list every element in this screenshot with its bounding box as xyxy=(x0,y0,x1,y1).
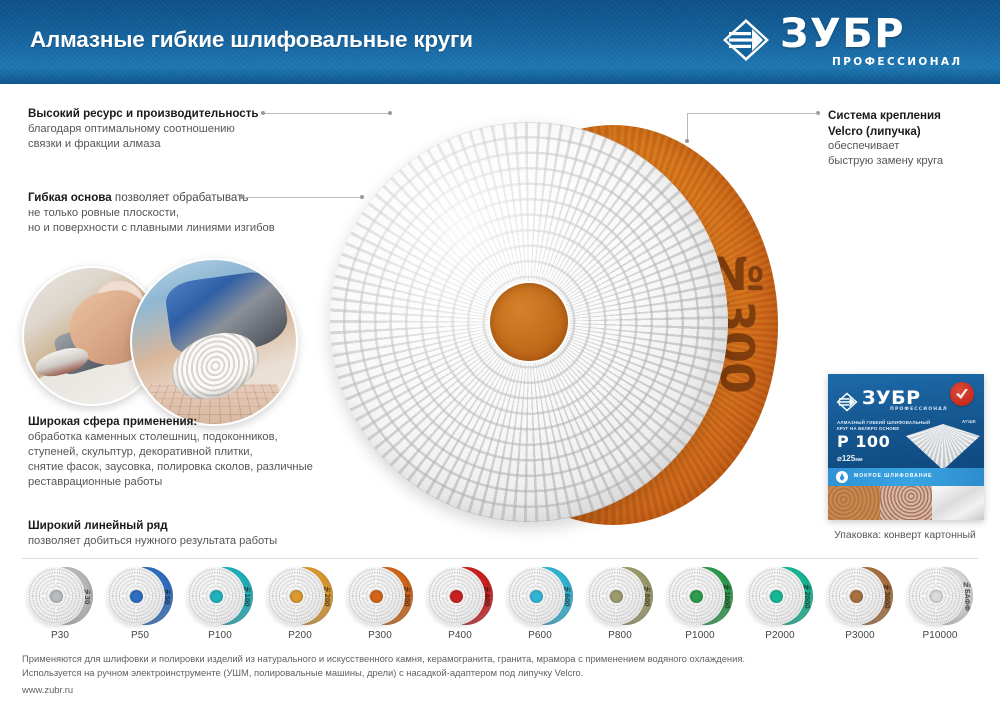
callout-lineup-title: Широкий линейный ряд xyxy=(28,518,277,534)
package-material-strip xyxy=(828,486,984,520)
variant-disc-face xyxy=(667,567,725,625)
footer-line1: Применяются для шлифовки и полировки изд… xyxy=(22,652,882,666)
variant-disc-face xyxy=(27,567,85,625)
variant-disc-face xyxy=(427,567,485,625)
package-diameter: ⌀125мм xyxy=(837,454,863,463)
variant-disc-face xyxy=(587,567,645,625)
lineup-divider xyxy=(22,558,978,559)
package-box: ЗУБР ПРОФЕССИОНАЛ АЛМАЗНЫЙ ГИБКИЙ ШЛИФОВ… xyxy=(828,374,984,520)
variant-label: P300 xyxy=(340,630,420,641)
variant-disc-face xyxy=(907,567,965,625)
variant-disc-face xyxy=(187,567,245,625)
package-article-code: АГШК xyxy=(962,419,976,424)
variant-center-hole xyxy=(450,590,463,603)
variant-center-hole xyxy=(50,590,63,603)
variant-center-hole xyxy=(930,590,943,603)
callout-velcro-title-2: Velcro (липучка) xyxy=(828,124,943,140)
variant-item[interactable]: №30P30 xyxy=(20,566,100,644)
package-caption: Упаковка: конверт картонный xyxy=(810,530,1000,541)
variant-disc-face xyxy=(107,567,165,625)
callout-velcro-title-1: Система крепления xyxy=(828,108,943,124)
variant-disc: №30 xyxy=(27,566,93,626)
variant-item[interactable]: №400P400 xyxy=(420,566,500,644)
callout-flexible-title: Гибкая основа позволяет обрабатывать xyxy=(28,190,275,206)
variant-disc: №1000 xyxy=(667,566,733,626)
variant-disc: №400 xyxy=(427,566,493,626)
variant-item[interactable]: №800P800 xyxy=(580,566,660,644)
variant-label: P100 xyxy=(180,630,260,641)
disc-center-hole xyxy=(490,283,568,361)
variant-item[interactable]: №1000P1000 xyxy=(660,566,740,644)
variant-list: №30P30№50P50№100P100№200P200№300P300№400… xyxy=(20,566,980,644)
photo-a-pad-shape xyxy=(33,343,92,382)
variant-center-hole xyxy=(370,590,383,603)
variant-disc: №БАФФ xyxy=(907,566,973,626)
package-grit-value: P 100 xyxy=(837,432,890,451)
zubr-diamond-icon xyxy=(722,18,770,62)
package-quality-seal-icon xyxy=(950,382,974,406)
grinding-disc-face xyxy=(330,122,728,522)
callout-performance-title: Высокий ресурс и производительность xyxy=(28,106,259,122)
variant-center-hole xyxy=(290,590,303,603)
variant-item[interactable]: №200P200 xyxy=(260,566,340,644)
callout-application-line3: снятие фасок, заусовка, полировка сколов… xyxy=(28,460,338,475)
variant-label: P1000 xyxy=(660,630,740,641)
variant-center-hole xyxy=(850,590,863,603)
package-top-panel: ЗУБР ПРОФЕССИОНАЛ АЛМАЗНЫЙ ГИБКИЙ ШЛИФОВ… xyxy=(828,374,984,468)
package-zubr-diamond-icon xyxy=(836,392,858,412)
callout-performance-line1: благодаря оптимальному соотношению xyxy=(28,122,259,137)
callout-application-line2: ступеней, скульптур, декоративной плитки… xyxy=(28,445,338,460)
callout-flexible-line1: не только ровные плоскости, xyxy=(28,206,275,221)
material-swatch-granite xyxy=(828,486,880,520)
variant-item[interactable]: №50P50 xyxy=(100,566,180,644)
variant-disc: №800 xyxy=(587,566,653,626)
variant-disc: №100 xyxy=(187,566,253,626)
variant-center-hole xyxy=(130,590,143,603)
variant-disc: №600 xyxy=(507,566,573,626)
variant-disc: №2000 xyxy=(747,566,813,626)
package-wet-banner: МОКРОЕ ШЛИФОВАНИЕ xyxy=(828,468,984,486)
callout-application-title: Широкая сфера применения: xyxy=(28,414,338,430)
photo-polishing-tile xyxy=(130,258,298,426)
variant-label: P200 xyxy=(260,630,340,641)
brand-tagline: ПРОФЕССИОНАЛ xyxy=(832,56,963,68)
variant-disc-face xyxy=(347,567,405,625)
variant-disc-face xyxy=(267,567,325,625)
variant-item[interactable]: №600P600 xyxy=(500,566,580,644)
variant-label: P10000 xyxy=(900,630,980,641)
callout-velcro: Система крепления Velcro (липучка) обесп… xyxy=(828,108,943,169)
page-header: Алмазные гибкие шлифовальные круги ЗУБР … xyxy=(0,0,1000,84)
variant-center-hole xyxy=(770,590,783,603)
product-infographic-page: Алмазные гибкие шлифовальные круги ЗУБР … xyxy=(0,0,1000,706)
material-swatch-stone xyxy=(932,486,984,520)
callout-performance-line2: связки и фракции алмаза xyxy=(28,137,259,152)
variant-disc-face xyxy=(507,567,565,625)
variant-disc: №50 xyxy=(107,566,173,626)
callout-flexible: Гибкая основа позволяет обрабатывать не … xyxy=(28,190,275,236)
callout-velcro-line1: обеспечивает xyxy=(828,139,943,154)
callout-velcro-line2: быструю замену круга xyxy=(828,154,943,169)
brand-logo: ЗУБР ПРОФЕССИОНАЛ xyxy=(722,16,982,72)
variant-label: P600 xyxy=(500,630,580,641)
variant-item[interactable]: №3000P3000 xyxy=(820,566,900,644)
variant-item[interactable]: №2000P2000 xyxy=(740,566,820,644)
application-photos xyxy=(22,258,322,410)
callout-flexible-title-rest: позволяет обрабатывать xyxy=(112,191,249,204)
page-title: Алмазные гибкие шлифовальные круги xyxy=(30,27,473,53)
variant-item[interactable]: №100P100 xyxy=(180,566,260,644)
variant-item[interactable]: №300P300 xyxy=(340,566,420,644)
callout-flexible-line2: но и поверхности с плавными линиями изги… xyxy=(28,221,275,236)
footer: Применяются для шлифовки и полировки изд… xyxy=(22,652,882,697)
variant-label: P3000 xyxy=(820,630,900,641)
variant-label: P50 xyxy=(100,630,180,641)
variant-center-hole xyxy=(210,590,223,603)
callout-application: Широкая сфера применения: обработка каме… xyxy=(28,414,338,490)
variant-center-hole xyxy=(610,590,623,603)
material-swatch-marble xyxy=(880,486,932,520)
package-diameter-unit: мм xyxy=(855,457,862,463)
callout-lineup: Широкий линейный ряд позволяет добиться … xyxy=(28,518,277,549)
leader-line-performance xyxy=(265,113,390,114)
footer-url[interactable]: www.zubr.ru xyxy=(22,683,882,697)
leader-line-velcro-h xyxy=(687,113,818,114)
package-brand-name: ЗУБР xyxy=(862,387,921,409)
water-drop-icon xyxy=(836,471,848,483)
variant-label: P400 xyxy=(420,630,500,641)
callout-performance: Высокий ресурс и производительность благ… xyxy=(28,106,259,152)
hero-product: №300 xyxy=(330,122,760,532)
package-diameter-value: 125 xyxy=(842,454,855,463)
variant-disc: №300 xyxy=(347,566,413,626)
variant-label: P2000 xyxy=(740,630,820,641)
package-brand-tagline: ПРОФЕССИОНАЛ xyxy=(890,407,948,412)
variant-disc: №200 xyxy=(267,566,333,626)
callout-lineup-subtitle: позволяет добиться нужного результата ра… xyxy=(28,534,277,549)
variant-disc: №3000 xyxy=(827,566,893,626)
footer-line2: Используется на ручном электроинструмент… xyxy=(22,666,882,680)
leader-dot-performance-end xyxy=(388,111,392,115)
callout-application-line4: реставрационные работы xyxy=(28,475,338,490)
variant-item[interactable]: №БАФФP10000 xyxy=(900,566,980,644)
package-wet-label: МОКРОЕ ШЛИФОВАНИЕ xyxy=(854,473,932,479)
variant-center-hole xyxy=(690,590,703,603)
variant-disc-face xyxy=(827,567,885,625)
variant-label: P30 xyxy=(20,630,100,641)
brand-name: ЗУБР xyxy=(780,12,905,56)
variant-center-hole xyxy=(530,590,543,603)
variant-disc-face xyxy=(747,567,805,625)
variant-label: P800 xyxy=(580,630,660,641)
callout-application-line1: обработка каменных столешниц, подоконник… xyxy=(28,430,338,445)
